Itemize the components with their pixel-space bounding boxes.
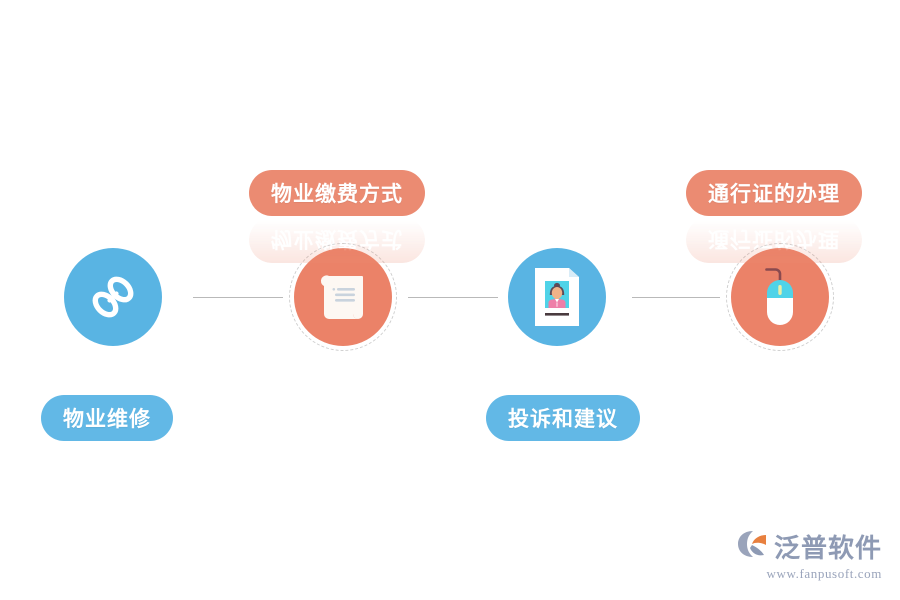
flow-node-4[interactable] <box>731 248 829 346</box>
node-label-4[interactable]: 通行证的办理 <box>686 170 862 216</box>
node-circle-3[interactable] <box>508 248 606 346</box>
node-circle-4[interactable] <box>731 248 829 346</box>
computer-mouse-icon <box>754 264 806 330</box>
id-card-icon <box>532 266 582 328</box>
logo-row: 泛普软件 <box>736 528 882 565</box>
flow-node-2[interactable] <box>294 248 392 346</box>
scroll-document-icon <box>315 268 371 326</box>
diagram-canvas: 物业缴费方式 物业缴费方式 通行证的办理 通行证的办理 物业维修 投诉和建议 泛… <box>0 0 900 600</box>
flow-node-1[interactable] <box>64 248 162 346</box>
node-label-2[interactable]: 物业缴费方式 <box>249 170 425 216</box>
connector-line-3 <box>632 297 720 298</box>
node-circle-1[interactable] <box>64 248 162 346</box>
chain-link-icon <box>87 271 139 323</box>
node-label-3[interactable]: 投诉和建议 <box>486 395 640 441</box>
flow-node-3[interactable] <box>508 248 606 346</box>
fanpu-logo-mark-icon <box>736 529 770 564</box>
connector-line-1 <box>193 297 283 298</box>
logo-url: www.fanpusoft.com <box>766 566 882 582</box>
logo-brand-name: 泛普软件 <box>774 528 882 565</box>
connector-line-2 <box>408 297 498 298</box>
node-circle-2[interactable] <box>294 248 392 346</box>
node-label-1[interactable]: 物业维修 <box>41 395 173 441</box>
watermark-logo: 泛普软件 www.fanpusoft.com <box>736 528 882 582</box>
